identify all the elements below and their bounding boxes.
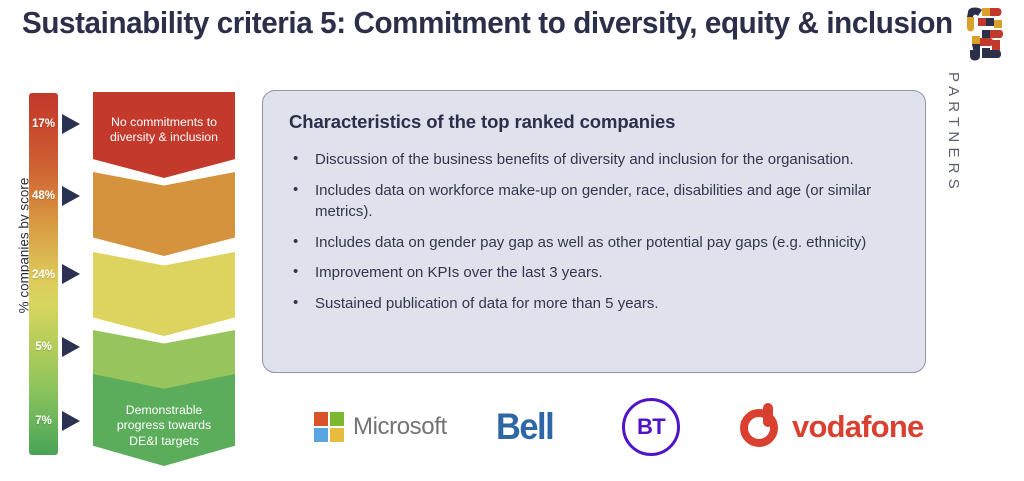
vodafone-speechmark-icon (740, 403, 784, 451)
arrow-icon-2 (62, 186, 80, 206)
funnel-step-5-label: Demonstrable progress towards DE&I targe… (93, 403, 235, 450)
list-item: Includes data on gender pay gap as well … (289, 232, 899, 254)
microsoft-logo-text: Microsoft (353, 413, 447, 441)
slide-root: Sustainability criteria 5: Commitment to… (0, 0, 1024, 481)
funnel-step-2[interactable] (93, 172, 235, 256)
list-item: Improvement on KPIs over the last 3 year… (289, 262, 899, 284)
microsoft-squares-icon (314, 412, 344, 442)
bell-logo: Bell (496, 392, 557, 462)
brand-wordmark: PARTNERS (945, 72, 962, 212)
bt-ring-icon: BT (622, 398, 680, 456)
funnel-step-3[interactable] (93, 252, 235, 336)
pct-label-1: 17% (29, 118, 58, 130)
page-title: Sustainability criteria 5: Commitment to… (22, 2, 924, 44)
bt-logo-text: BT (637, 414, 665, 440)
characteristics-list: Discussion of the business benefits of d… (289, 149, 899, 314)
arrow-icon-4 (62, 337, 80, 357)
arrow-icon-3 (62, 264, 80, 284)
pct-label-5: 7% (29, 415, 58, 427)
pct-label-2: 48% (29, 190, 58, 202)
characteristics-card: Characteristics of the top ranked compan… (262, 90, 926, 373)
company-logo-strip: Microsoft Bell BT vodafone (262, 392, 932, 462)
pct-label-3: 24% (29, 269, 58, 281)
funnel-step-1-label: No commitments to diversity & inclusion (93, 115, 235, 146)
vodafone-logo-text: vodafone (792, 409, 923, 445)
list-item: Sustained publication of data for more t… (289, 293, 899, 315)
bell-logo-text: Bell (496, 406, 553, 448)
microsoft-logo: Microsoft (314, 392, 447, 462)
arrow-icon-1 (62, 114, 80, 134)
brand-logo: PARTNERS (958, 4, 1016, 214)
arrow-icon-5 (62, 411, 80, 431)
vodafone-logo: vodafone (740, 392, 923, 462)
pct-label-4: 5% (29, 341, 58, 353)
bt-logo: BT (622, 392, 680, 462)
funnel-chevrons: No commitments to diversity & inclusion … (93, 92, 235, 458)
list-item: Discussion of the business benefits of d… (289, 149, 899, 171)
card-title: Characteristics of the top ranked compan… (289, 111, 899, 133)
list-item: Includes data on workforce make-up on ge… (289, 180, 899, 223)
sfl-logo-icon (964, 6, 1008, 68)
funnel-step-1[interactable]: No commitments to diversity & inclusion (93, 92, 235, 178)
